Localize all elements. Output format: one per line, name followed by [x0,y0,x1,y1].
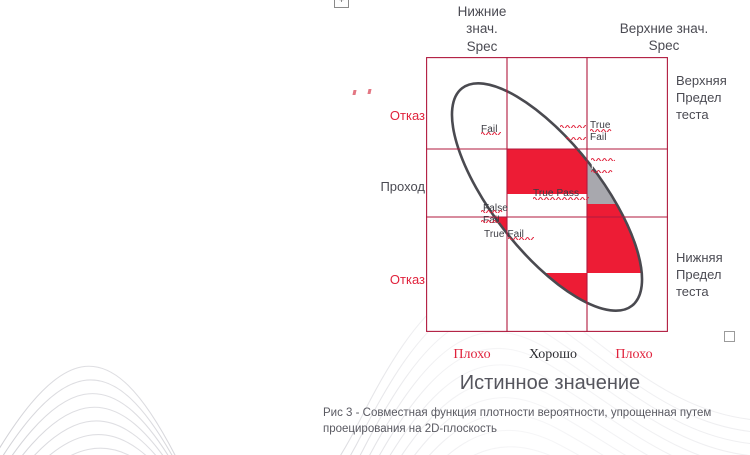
cell-label-fail-northwest: Fail [481,124,498,136]
cell-label-true-pass: True Pass [533,188,579,200]
joint-pdf-figure: Нижние знач. Spec Верхние знач. Spec Вер… [0,0,750,455]
cell-label-false-fail-southwest: False Fail [483,203,508,227]
x-axis-label-good: Хорошо [508,347,598,363]
x-axis-label-bad-right: Плохо [589,347,679,363]
y-axis-label-pass: Проход [361,179,425,194]
y-axis-label-fail-bottom: Отказ [361,272,425,287]
spec-lower-label: Нижние знач. Spec [439,3,525,55]
cell-label-true-fail-northeast: True Fail [590,120,611,144]
x-axis-title: Истинное значение [430,372,670,395]
empty-square-marker-icon [724,331,735,342]
x-axis-label-bad-left: Плохо [427,347,517,363]
y-axis-label-fail-top: Отказ [361,108,425,123]
upper-test-limit-label: Верхняя Предел теста [676,72,748,123]
plus-marker-icon: + [334,0,349,8]
figure-caption: Рис 3 - Совместная функция плотности вер… [323,405,737,438]
cell-label-true-fail-southwest: True Fail [484,229,524,241]
figure-page: + [0,0,750,455]
stray-red-marks [352,88,378,98]
cell-label-false-pass: False Pass [591,149,616,173]
spec-upper-label: Верхние знач. Spec [604,20,724,55]
lower-test-limit-label: Нижняя Предел теста [676,249,748,300]
